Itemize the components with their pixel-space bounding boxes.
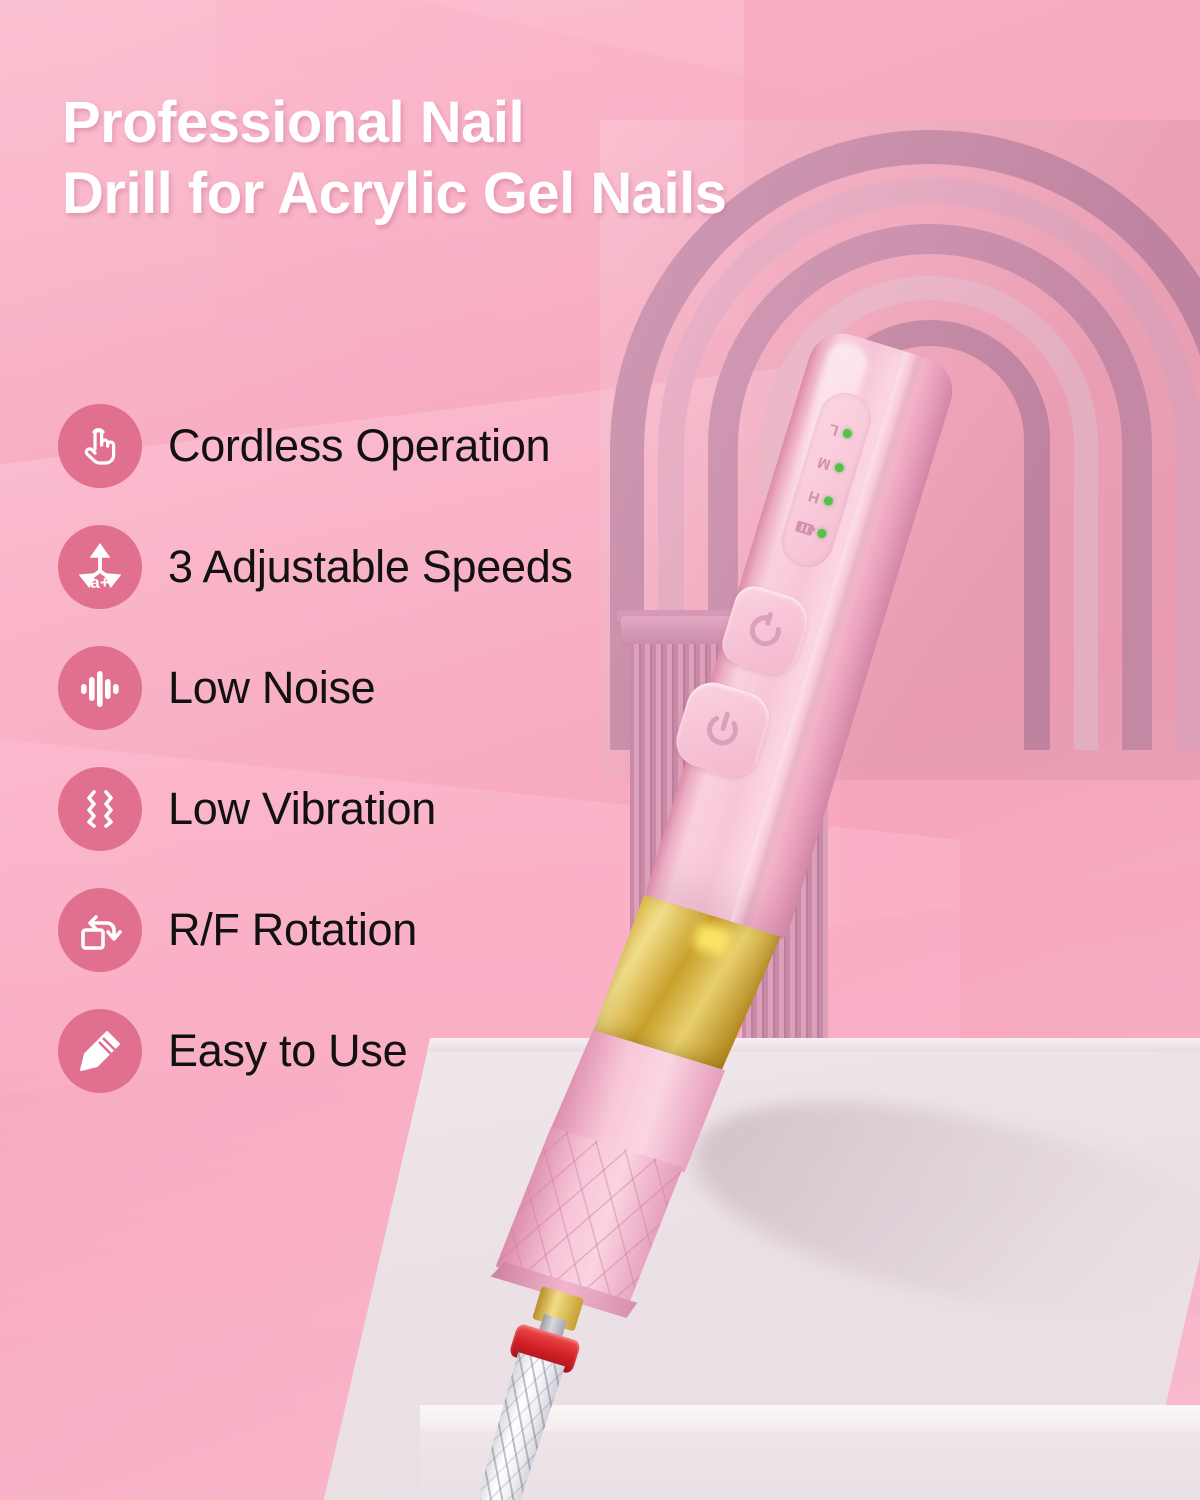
feature-list: Cordless Operation a+ 3 Adjustable Speed…: [58, 385, 698, 1111]
led-indicator: [833, 462, 844, 473]
speed-label-high: H: [806, 488, 821, 506]
power-symbol-icon: [695, 702, 750, 757]
page-title: Professional Nail Drill for Acrylic Gel …: [62, 88, 942, 230]
feature-label: Cordless Operation: [168, 420, 550, 472]
feature-item-rf-rotation: R/F Rotation: [58, 869, 698, 990]
svg-text:a+: a+: [90, 573, 109, 592]
speed-level-medium: M: [816, 454, 846, 476]
adjustable-speed-icon: a+: [58, 525, 142, 609]
vibration-icon: [58, 767, 142, 851]
sound-wave-icon: [58, 646, 142, 730]
pencil-icon: [58, 1009, 142, 1093]
feature-item-easy-to-use: Easy to Use: [58, 990, 698, 1111]
headline-line-1: Professional Nail: [62, 90, 524, 155]
feature-label: 3 Adjustable Speeds: [168, 541, 573, 593]
feature-item-adjustable-speeds: a+ 3 Adjustable Speeds: [58, 506, 698, 627]
rotation-icon: [58, 888, 142, 972]
tap-hand-icon: [58, 404, 142, 488]
speed-label-medium: M: [816, 454, 832, 472]
feature-item-low-vibration: Low Vibration: [58, 748, 698, 869]
feature-label: Easy to Use: [168, 1025, 407, 1077]
feature-item-low-noise: Low Noise: [58, 627, 698, 748]
speed-label-low: L: [828, 421, 841, 438]
feature-label: R/F Rotation: [168, 904, 417, 956]
feature-label: Low Noise: [168, 662, 375, 714]
speed-level-low: L: [828, 421, 855, 442]
speed-level-high: H: [806, 488, 834, 510]
led-indicator: [822, 495, 833, 506]
led-indicator: [816, 528, 827, 539]
feature-item-cordless-operation: Cordless Operation: [58, 385, 698, 506]
feature-label: Low Vibration: [168, 783, 436, 835]
battery-icon: [794, 520, 813, 535]
headline-line-2: Drill for Acrylic Gel Nails: [62, 159, 942, 230]
circular-arrow-icon: [740, 606, 790, 656]
led-indicator: [842, 428, 853, 439]
product-marketing-image: L M H: [0, 0, 1200, 1500]
battery-level-row: [794, 520, 827, 540]
